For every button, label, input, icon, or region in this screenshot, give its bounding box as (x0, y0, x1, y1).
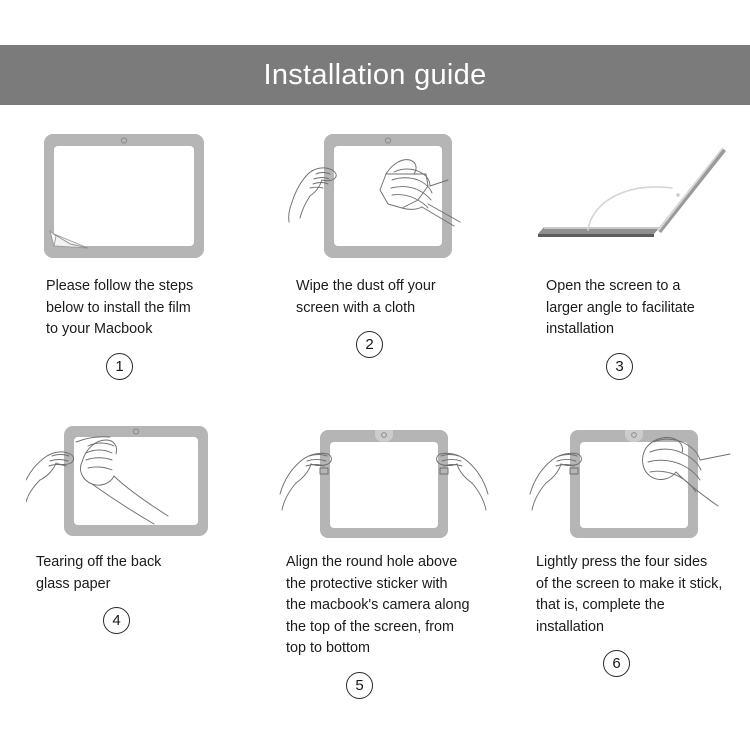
step-badge-2: 2 (356, 331, 383, 358)
step-cell-5: Align the round hole above the protectiv… (250, 410, 500, 699)
badge-row-2: 2 (268, 331, 482, 358)
hand-pressing-screen-icon (526, 410, 740, 538)
step-caption-2: Wipe the dust off your screen with a clo… (296, 276, 436, 319)
page-title: Installation guide (263, 61, 486, 90)
step-caption-4: Tearing off the back glass paper (36, 552, 161, 595)
step-caption-1: Please follow the steps below to install… (46, 276, 193, 341)
hands-peeling-back-paper-icon (26, 410, 240, 538)
step-cell-3: Open the screen to a larger angle to fac… (500, 130, 750, 410)
step-badge-4: 4 (103, 607, 130, 634)
badge-row-4: 4 (18, 607, 232, 634)
hands-wiping-screen-with-cloth-icon (276, 130, 490, 262)
step-badge-3: 3 (606, 353, 633, 380)
badge-row-5: 5 (268, 672, 482, 699)
step-badge-5: 5 (346, 672, 373, 699)
step-caption-5: Align the round hole above the protectiv… (286, 552, 470, 660)
step-cell-4: Tearing off the back glass paper 4 (0, 410, 250, 699)
step-cell-2: Wipe the dust off your screen with a clo… (250, 130, 500, 410)
steps-grid: Please follow the steps below to install… (0, 130, 750, 699)
step-badge-6: 6 (603, 650, 630, 677)
installation-guide-page: Installation guide Please follow the ste… (0, 0, 750, 750)
step-badge-1: 1 (106, 353, 133, 380)
laptop-opening-angle-icon (526, 130, 740, 262)
step-cell-1: Please follow the steps below to install… (0, 130, 250, 410)
step-cell-6: Lightly press the four sides of the scre… (500, 410, 750, 699)
step-caption-6: Lightly press the four sides of the scre… (536, 552, 732, 638)
badge-row-1: 1 (18, 353, 232, 380)
step-caption-3: Open the screen to a larger angle to fac… (546, 276, 695, 341)
two-hands-aligning-film-icon (276, 410, 490, 538)
badge-row-3: 3 (518, 353, 732, 380)
badge-row-6: 6 (518, 650, 732, 677)
screen-with-peeling-film-corner-icon (26, 130, 240, 262)
header-bar: Installation guide (0, 45, 750, 105)
